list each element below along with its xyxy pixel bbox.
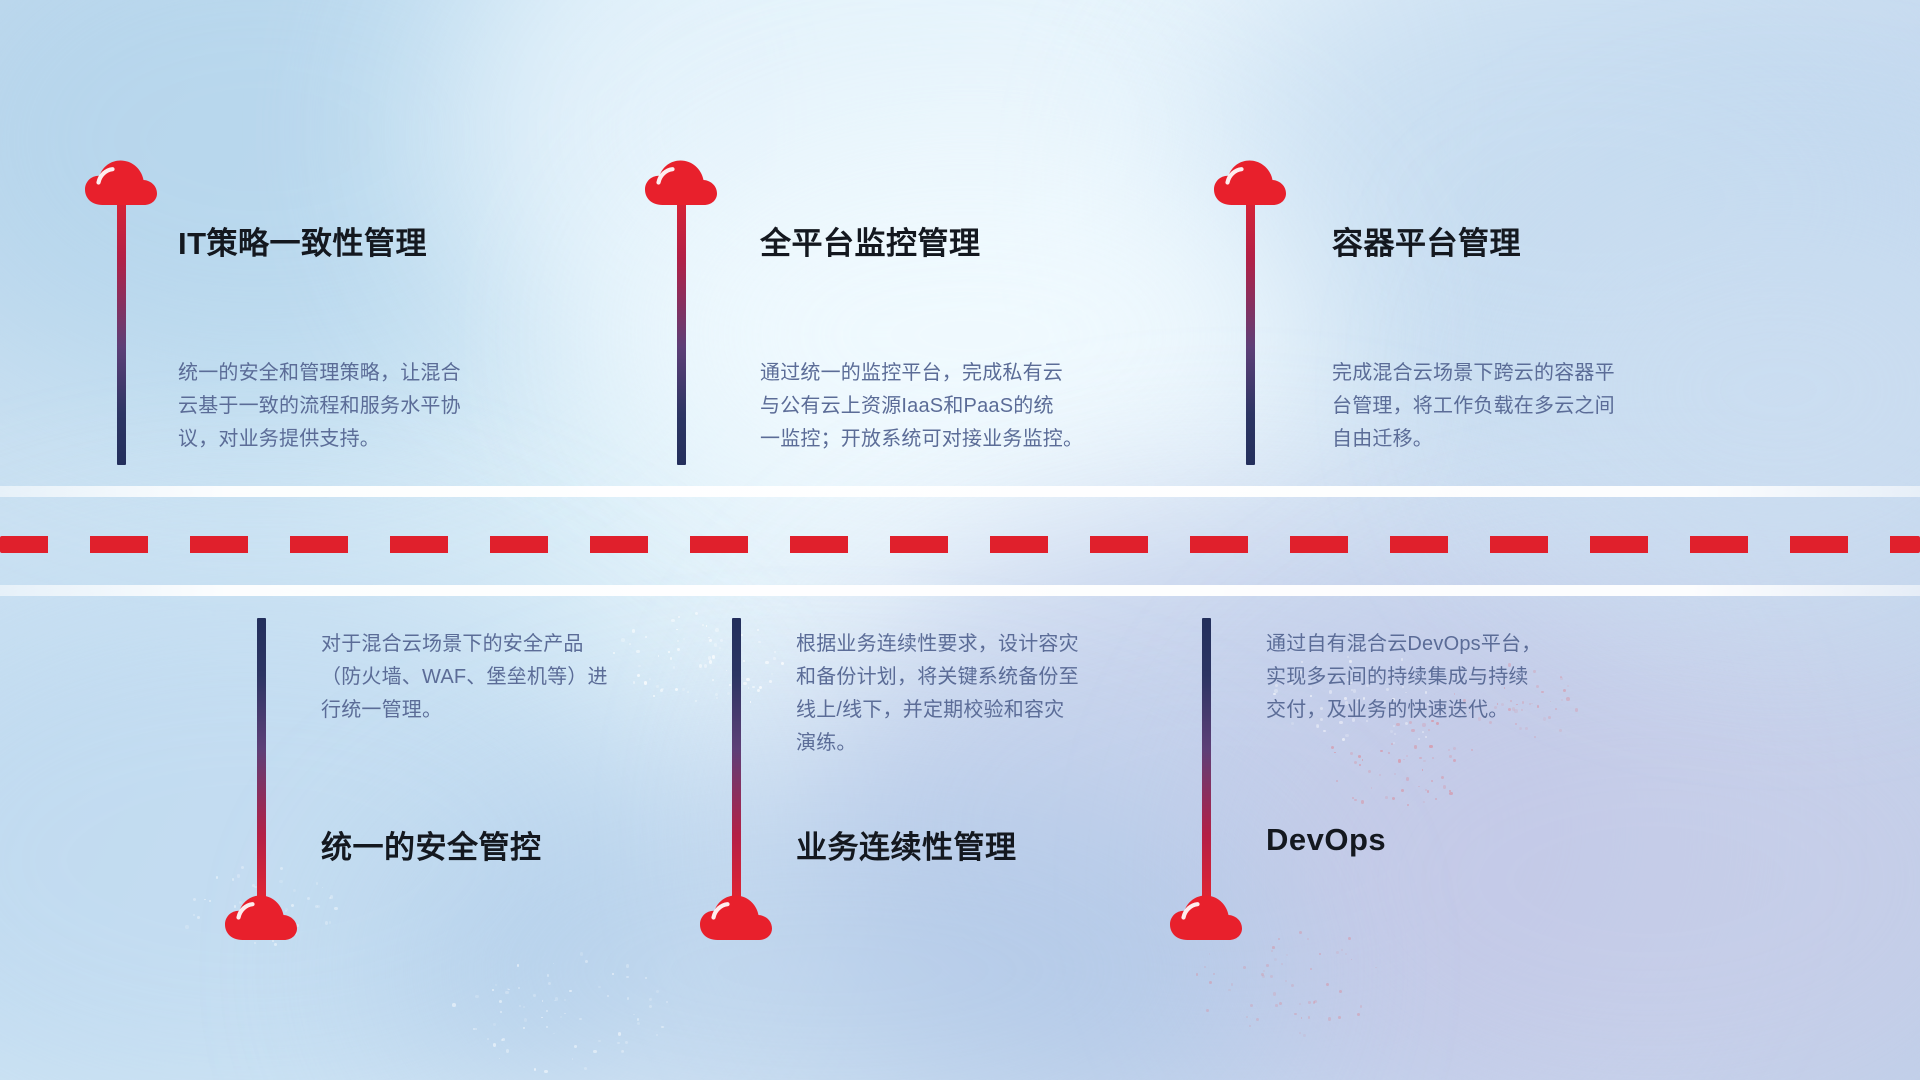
body-line: 实现多云间的持续集成与持续 [1266, 661, 1541, 694]
body-line: 统一的安全和管理策略，让混合 [178, 357, 461, 390]
body-line: 对于混合云场景下的安全产品 [321, 628, 608, 661]
body-line: 通过自有混合云DevOps平台， [1266, 628, 1541, 661]
body-line: 线上/线下，并定期校验和容灾 [796, 694, 1079, 727]
top-column-1-title: IT策略一致性管理 [178, 218, 427, 263]
body-line: 议，对业务提供支持。 [178, 423, 461, 456]
top-column-3: 容器平台管理 完成混合云场景下跨云的容器平 台管理，将工作负载在多云之间 自由迁… [1110, 0, 1810, 486]
top-column-2: 全平台监控管理 通过统一的监控平台，完成私有云 与公有云上资源IaaS和PaaS… [560, 0, 1200, 486]
cloud-icon [84, 158, 158, 208]
body-line: 与公有云上资源IaaS和PaaS的统 [760, 390, 1083, 423]
cloud-icon [1169, 893, 1243, 943]
connector-stem [117, 185, 126, 465]
connector-stem [1202, 618, 1211, 903]
body-line: 台管理，将工作负载在多云之间 [1332, 390, 1615, 423]
connector-stem [1246, 185, 1255, 465]
body-line: 通过统一的监控平台，完成私有云 [760, 357, 1083, 390]
body-line: 一监控；开放系统可对接业务监控。 [760, 423, 1083, 456]
body-line: 行统一管理。 [321, 694, 608, 727]
top-column-1-body: 统一的安全和管理策略，让混合 云基于一致的流程和服务水平协 议，对业务提供支持。 [178, 357, 461, 456]
body-line: 自由迁移。 [1332, 423, 1615, 456]
road-edge-bottom [0, 585, 1920, 596]
bottom-column-2-body: 根据业务连续性要求，设计容灾 和备份计划，将关键系统备份至 线上/线下，并定期校… [796, 628, 1079, 760]
bottom-column-3-title: DevOps [1266, 822, 1386, 858]
body-line: 演练。 [796, 727, 1079, 760]
connector-stem [257, 618, 266, 903]
top-column-3-body: 完成混合云场景下跨云的容器平 台管理，将工作负载在多云之间 自由迁移。 [1332, 357, 1615, 456]
cloud-icon [224, 893, 298, 943]
bottom-column-1-body: 对于混合云场景下的安全产品 （防火墙、WAF、堡垒机等）进 行统一管理。 [321, 628, 608, 727]
bottom-column-2-title: 业务连续性管理 [796, 822, 1017, 867]
cloud-icon [1213, 158, 1287, 208]
body-line: 和备份计划，将关键系统备份至 [796, 661, 1079, 694]
body-line: 交付，及业务的快速迭代。 [1266, 694, 1541, 727]
connector-stem [732, 618, 741, 903]
body-line: （防火墙、WAF、堡垒机等）进 [321, 661, 608, 694]
road-dashed-center-line [0, 536, 1920, 553]
connector-stem [677, 185, 686, 465]
cloud-icon [644, 158, 718, 208]
road-divider [0, 486, 1920, 596]
cloud-icon [699, 893, 773, 943]
road-edge-top [0, 486, 1920, 497]
bottom-column-3: 通过自有混合云DevOps平台， 实现多云间的持续集成与持续 交付，及业务的快速… [1080, 596, 1780, 1016]
bottom-column-1-title: 统一的安全管控 [321, 822, 542, 867]
top-column-3-title: 容器平台管理 [1332, 218, 1521, 263]
top-column-1: IT策略一致性管理 统一的安全和管理策略，让混合 云基于一致的流程和服务水平协 … [0, 0, 640, 486]
bottom-column-3-body: 通过自有混合云DevOps平台， 实现多云间的持续集成与持续 交付，及业务的快速… [1266, 628, 1541, 727]
body-line: 完成混合云场景下跨云的容器平 [1332, 357, 1615, 390]
body-line: 云基于一致的流程和服务水平协 [178, 390, 461, 423]
top-column-2-title: 全平台监控管理 [760, 218, 981, 263]
body-line: 根据业务连续性要求，设计容灾 [796, 628, 1079, 661]
top-column-2-body: 通过统一的监控平台，完成私有云 与公有云上资源IaaS和PaaS的统 一监控；开… [760, 357, 1083, 456]
